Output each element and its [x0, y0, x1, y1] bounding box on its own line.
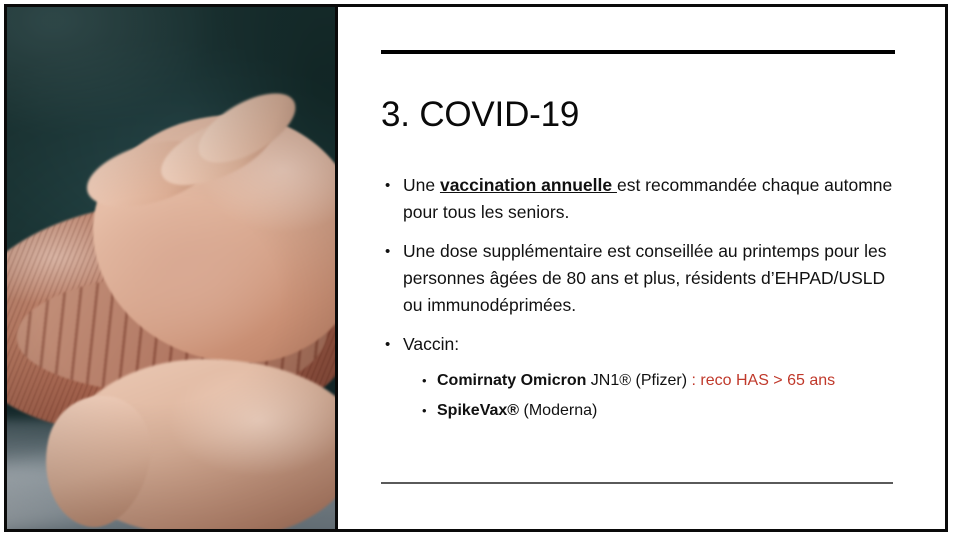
- bullet-item-2: Une dose supplémentaire est conseillée a…: [381, 238, 895, 319]
- bullet-2-text: Une dose supplémentaire est conseillée a…: [403, 241, 886, 315]
- hands-photo: [7, 7, 335, 529]
- photo-panel: [4, 4, 338, 532]
- footer-rule-bottom: [381, 482, 893, 484]
- bullet-3-text: Vaccin:: [403, 334, 459, 354]
- sub-bullet-1-red-note: : reco HAS > 65 ans: [692, 372, 836, 389]
- slide-content: 3. COVID-19 Une vaccination annuelle est…: [381, 0, 895, 540]
- bullet-item-1: Une vaccination annuelle est recommandée…: [381, 172, 895, 226]
- slide: 3. COVID-19 Une vaccination annuelle est…: [0, 0, 960, 540]
- bullet-1-pre-text: Une: [403, 175, 440, 195]
- bullet-1-emphasis: vaccination annuelle: [440, 175, 617, 195]
- bullet-list: Une vaccination annuelle est recommandée…: [381, 172, 895, 428]
- bullet-item-3: Vaccin:: [381, 331, 895, 358]
- page-title: 3. COVID-19: [381, 95, 579, 135]
- sub-bullet-1-regular: JN1® (Pfizer): [586, 372, 691, 389]
- sub-bullet-spikevax: SpikeVax® (Moderna): [381, 398, 895, 423]
- sub-bullet-2-regular: (Moderna): [519, 402, 597, 419]
- title-rule-top: [381, 50, 895, 54]
- sub-bullet-comirnaty: Comirnaty Omicron JN1® (Pfizer) : reco H…: [381, 368, 895, 393]
- sub-bullet-1-bold: Comirnaty Omicron: [437, 372, 586, 389]
- vaccine-sublist: Comirnaty Omicron JN1® (Pfizer) : reco H…: [381, 368, 895, 423]
- sub-bullet-2-bold: SpikeVax®: [437, 402, 519, 419]
